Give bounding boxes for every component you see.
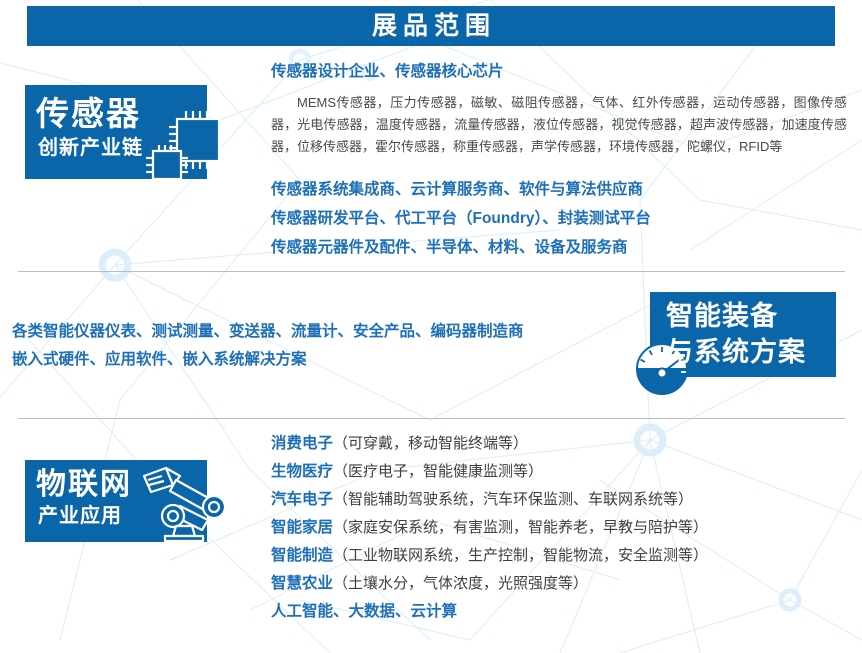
list-item: 汽车电子（智能辅助驾驶系统，汽车环保监测、车联网系统等） xyxy=(271,486,708,514)
equipment-line-2: 嵌入式硬件、应用软件、嵌入系统解决方案 xyxy=(12,352,307,368)
list-item: 生物医疗（医疗电子，智能健康监测等） xyxy=(271,458,708,486)
section-divider-2 xyxy=(18,418,845,419)
sensor-line-1: 传感器系统集成商、云计算服务商、软件与算法供应商 xyxy=(271,182,643,198)
sensor-line-2: 传感器研发平台、代工平台（Foundry）、封装测试平台 xyxy=(271,211,651,227)
iot-badge-title: 物联网 xyxy=(36,470,132,500)
equipment-line-1: 各类智能仪器仪表、测试测量、变送器、流量计、安全产品、编码器制造商 xyxy=(12,324,524,340)
sensor-heading: 传感器设计企业、传感器核心芯片 xyxy=(271,64,504,80)
iot-item-key: 人工智能、大数据、云计算 xyxy=(271,603,457,620)
list-item: 智能家居（家庭安保系统，有害监测，智能养老，早教与陪护等） xyxy=(271,514,708,542)
iot-item-key: 智能制造 xyxy=(271,547,333,564)
iot-item-value: （家庭安保系统，有害监测，智能养老，早教与陪护等） xyxy=(333,519,708,536)
microchip-icon xyxy=(140,101,235,196)
iot-item-value: （可穿戴，移动智能终端等） xyxy=(333,435,528,452)
iot-item-value: （医疗电子，智能健康监测等） xyxy=(333,463,543,480)
iot-item-key: 生物医疗 xyxy=(271,463,333,480)
sensor-badge-title: 传感器 xyxy=(36,97,141,130)
page-banner: 展品范围 xyxy=(27,6,835,46)
list-item: 智慧农业（土壤水分，气体浓度，光照强度等） xyxy=(271,570,708,598)
iot-item-key: 汽车电子 xyxy=(271,491,333,508)
iot-category-list: 消费电子（可穿戴，移动智能终端等） 生物医疗（医疗电子，智能健康监测等） 汽车电… xyxy=(271,430,708,626)
iot-item-key: 消费电子 xyxy=(271,435,333,452)
iot-item-value: （智能辅助驾驶系统，汽车环保监测、车联网系统等） xyxy=(333,491,693,508)
sensor-badge-subtitle: 创新产业链 xyxy=(38,138,143,158)
equipment-badge-subtitle: 与系统方案 xyxy=(666,339,806,366)
robot-arm-icon xyxy=(140,466,240,546)
page-title: 展品范围 xyxy=(366,14,496,39)
iot-item-value: （土壤水分，气体浓度，光照强度等） xyxy=(333,575,588,592)
iot-badge-subtitle: 产业应用 xyxy=(38,506,122,526)
sensor-line-3: 传感器元器件及配件、半导体、材料、设备及服务商 xyxy=(271,240,628,256)
iot-item-key: 智能家居 xyxy=(271,519,333,536)
list-item: 智能制造（工业物联网系统，生产控制，智能物流，安全监测等） xyxy=(271,542,708,570)
iot-item-key: 智慧农业 xyxy=(271,575,333,592)
list-item: 人工智能、大数据、云计算 xyxy=(271,598,708,626)
equipment-badge-title: 智能装备 xyxy=(666,303,778,330)
sensor-paragraph: MEMS传感器，压力传感器，磁敏、磁阻传感器，气体、红外传感器，运动传感器，图像… xyxy=(271,92,847,158)
sensor-paragraph-text: MEMS传感器，压力传感器，磁敏、磁阻传感器，气体、红外传感器，运动传感器，图像… xyxy=(271,95,847,154)
section-divider-1 xyxy=(18,271,845,272)
iot-item-value: （工业物联网系统，生产控制，智能物流，安全监测等） xyxy=(333,547,708,564)
list-item: 消费电子（可穿戴，移动智能终端等） xyxy=(271,430,708,458)
